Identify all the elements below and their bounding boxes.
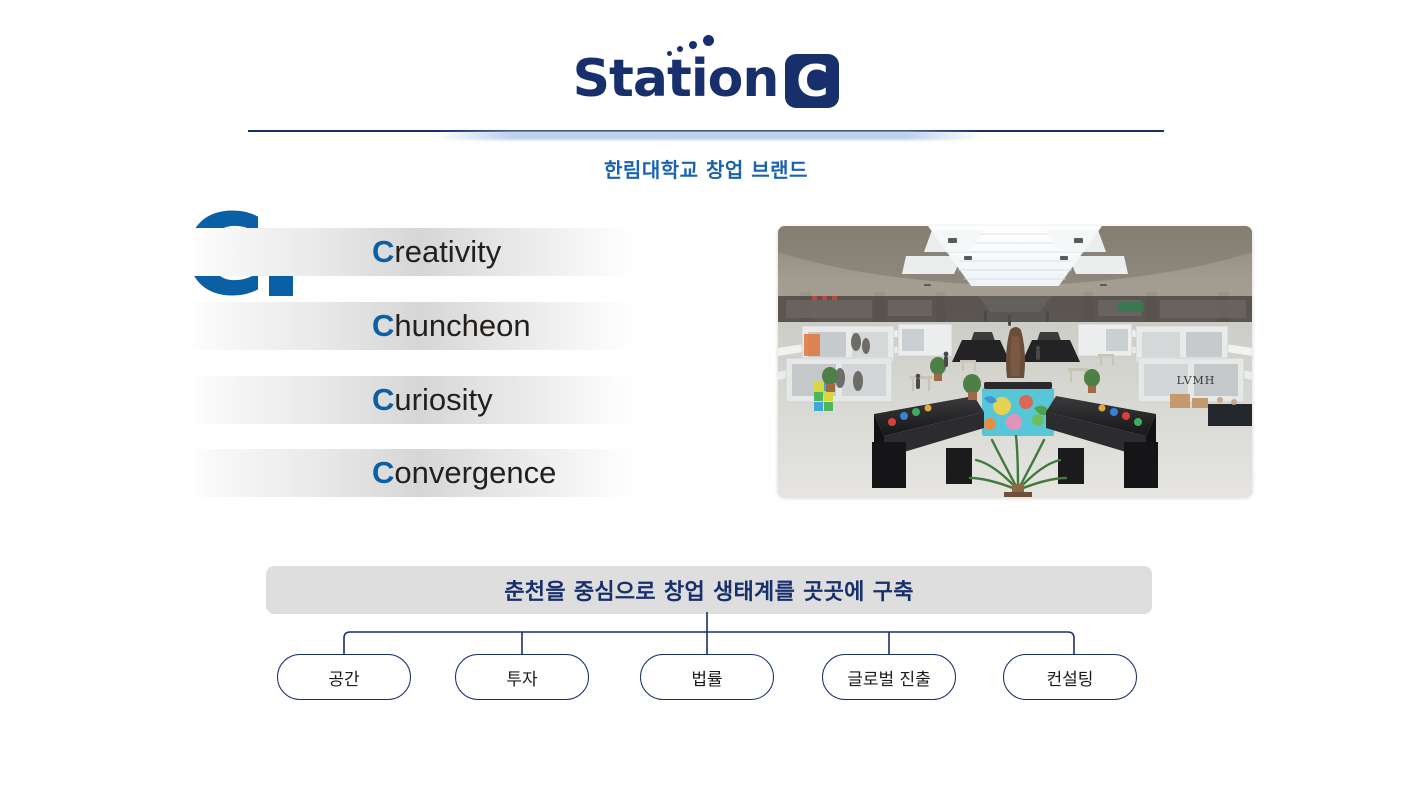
ecosystem-node-list: 공간 투자 법률 글로벌 진출 컨설팅 [266, 654, 1152, 702]
concept-label-chuncheon: Chuncheon [372, 308, 531, 344]
brand-badge-c: C [785, 54, 839, 108]
node-label: 컨설팅 [1047, 665, 1094, 690]
header-divider [248, 130, 1164, 142]
concept-label-creativity: Creativity [372, 234, 501, 270]
campus-interior-photo: LVMH [778, 226, 1252, 497]
node-label: 공간 [328, 665, 359, 690]
concept-bar-convergence: Convergence [185, 449, 635, 497]
logo-dots-icon [667, 40, 717, 60]
divider-glow [436, 131, 982, 140]
ecosystem-node-global[interactable]: 글로벌 진출 [822, 654, 956, 700]
concept-label-curiosity: Curiosity [372, 382, 493, 418]
ecosystem-banner-text: 춘천을 중심으로 창업 생태계를 곳곳에 구축 [504, 574, 914, 606]
campus-photo-graphic: LVMH [778, 226, 1252, 497]
node-label: 법률 [691, 665, 722, 690]
node-label: 투자 [506, 665, 537, 690]
ecosystem-banner: 춘천을 중심으로 창업 생태계를 곳곳에 구축 [266, 566, 1152, 614]
concept-label-convergence: Convergence [372, 455, 556, 491]
concept-bar-chuncheon: Chuncheon [185, 302, 635, 350]
concept-bar-creativity: Creativity [185, 228, 635, 276]
brand-subtitle: 한림대학교 창업 브랜드 [0, 154, 1412, 183]
ecosystem-node-space[interactable]: 공간 [277, 654, 411, 700]
concept-bar-curiosity: Curiosity [185, 376, 635, 424]
ecosystem-node-investment[interactable]: 투자 [455, 654, 589, 700]
brand-logo: Station C [0, 44, 1412, 114]
photo-sign-lvmh: LVMH [1177, 374, 1216, 387]
ecosystem-node-legal[interactable]: 법률 [640, 654, 774, 700]
brand-wordmark: Station [573, 53, 779, 105]
slide-canvas: Station C 한림대학교 창업 브랜드 C Creativity Chun… [0, 0, 1412, 794]
ecosystem-node-consulting[interactable]: 컨설팅 [1003, 654, 1137, 700]
node-label: 글로벌 진출 [847, 665, 931, 690]
